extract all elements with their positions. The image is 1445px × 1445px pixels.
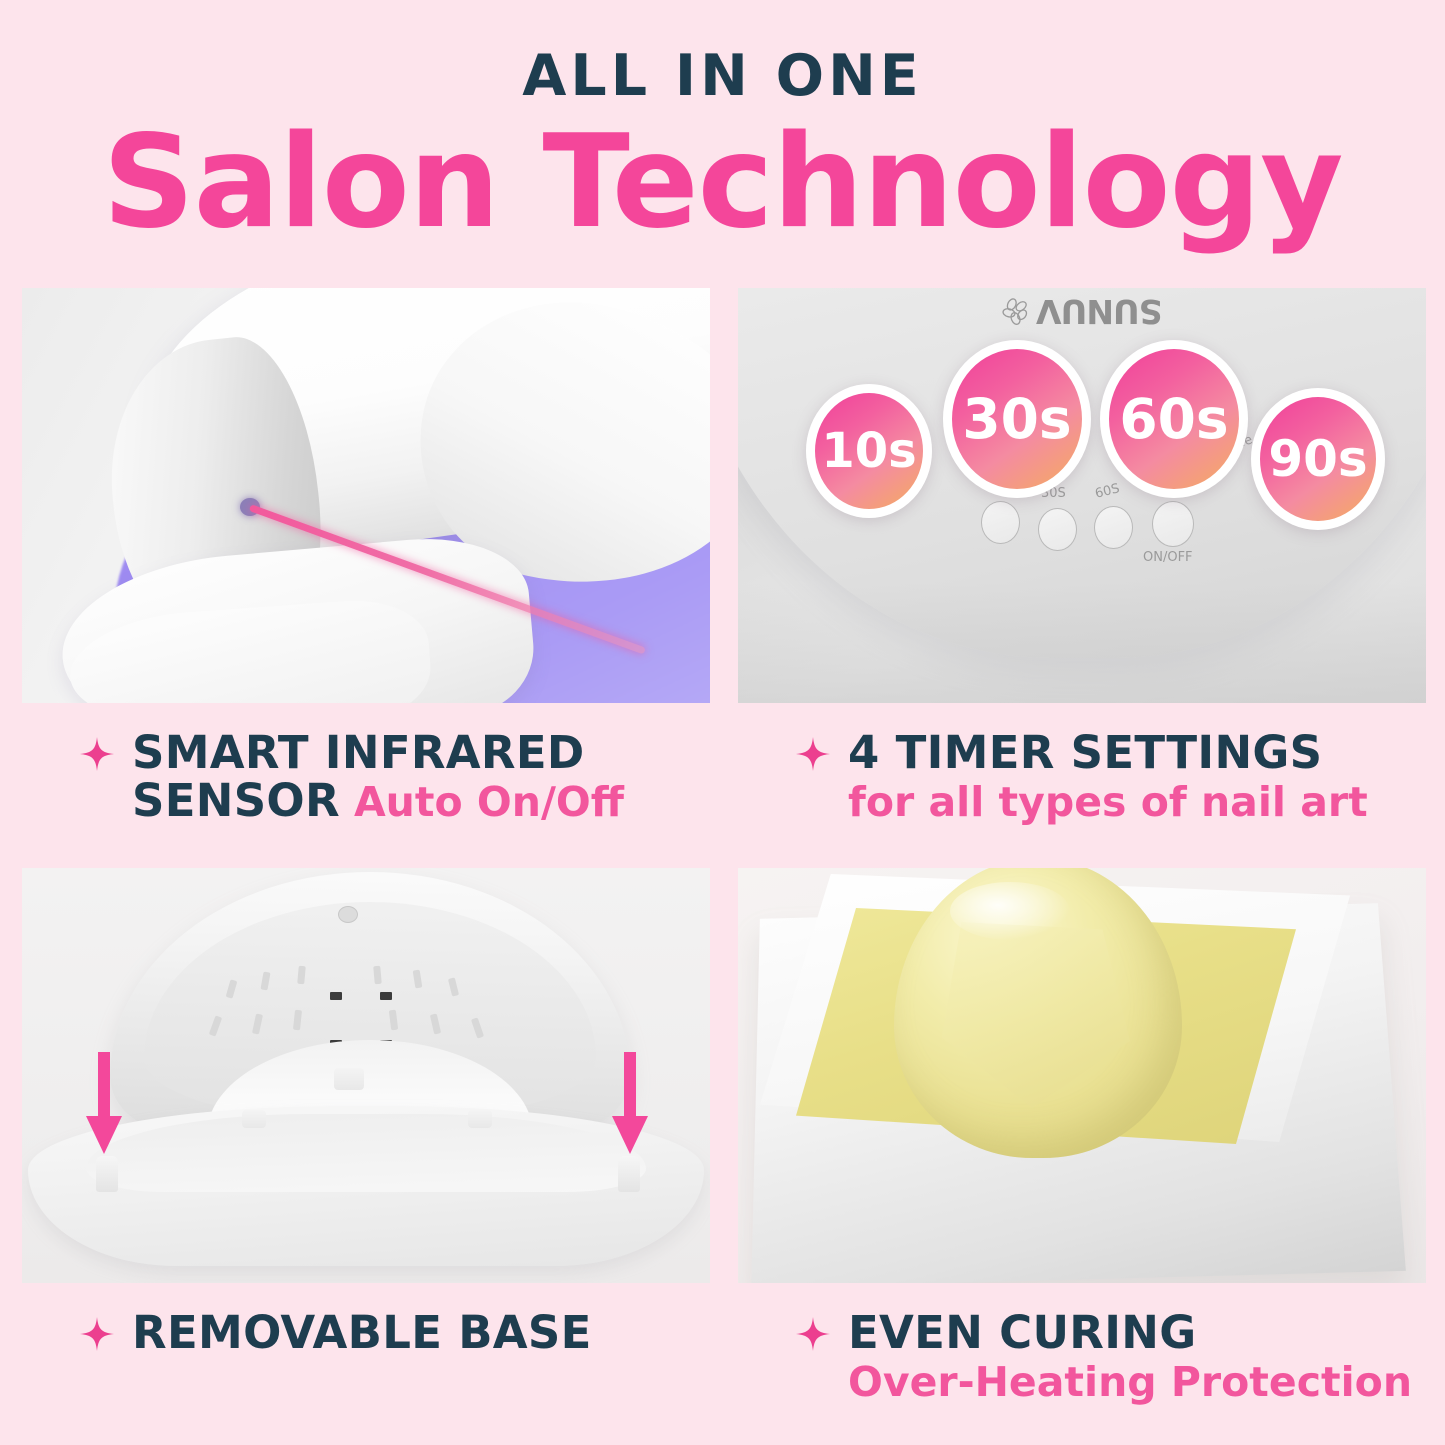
timer-bubble-90s[interactable]: 90s <box>1251 388 1385 530</box>
timer-bubble-10s[interactable]: 10s <box>806 384 932 518</box>
assembly-arrow-right-icon <box>610 1052 650 1158</box>
feature-caption: REMOVABLE BASE <box>22 1309 710 1357</box>
feature-title-line2: SENSOR <box>132 774 340 827</box>
feature-title: SMART INFRARED <box>132 726 585 779</box>
feature-card-timer-settings: SUNUV 10S 30S 60S 99S Low Heat Mode <box>738 288 1426 824</box>
feature-subtitle: Over-Heating Protection <box>848 1361 1412 1404</box>
feature-card-even-curing: EVEN CURING Over-Heating Protection <box>738 868 1426 1404</box>
sparkle-icon <box>80 1317 114 1351</box>
device-power-label: ON/OFF <box>1143 550 1193 565</box>
base-tab-right <box>468 1110 492 1128</box>
feature-title: REMOVABLE BASE <box>132 1306 592 1359</box>
feature-title: EVEN CURING <box>848 1306 1197 1359</box>
feature-caption: EVEN CURING Over-Heating Protection <box>738 1309 1426 1404</box>
base-peg-left <box>96 1156 118 1192</box>
device-button-30s[interactable] <box>1038 508 1077 551</box>
led-strip <box>373 966 382 985</box>
led-specular-highlight <box>950 882 1070 940</box>
page-title: Salon Technology <box>0 119 1445 247</box>
brand-name: SUNUV <box>1037 292 1163 331</box>
led-chip-macro-photo <box>738 868 1426 1283</box>
dome-latch-tab <box>334 1068 364 1090</box>
flower-icon <box>1001 297 1031 327</box>
base-peg-right <box>618 1156 640 1192</box>
feature-card-removable-base: REMOVABLE BASE <box>22 868 710 1357</box>
dome-sensor-dot <box>338 906 358 923</box>
page-header: ALL IN ONE Salon Technology <box>0 0 1445 247</box>
removable-base-exploded-photo <box>22 868 710 1283</box>
feature-card-smart-infrared-sensor: SMART INFRARED SENSORAuto On/Off <box>22 288 710 824</box>
base-tab-left <box>242 1110 266 1128</box>
feature-title: 4 TIMER SETTINGS <box>848 726 1322 779</box>
timer-bubble-30s[interactable]: 30s <box>943 340 1091 498</box>
assembly-arrow-left-icon <box>84 1052 124 1158</box>
feature-caption: 4 TIMER SETTINGS for all types of nail a… <box>738 729 1426 824</box>
device-shadow <box>738 583 1426 703</box>
device-button-power[interactable] <box>1152 501 1194 547</box>
control-panel-photo: SUNUV 10S 30S 60S 99S Low Heat Mode <box>738 288 1426 703</box>
feature-caption: SMART INFRARED SENSORAuto On/Off <box>22 729 710 824</box>
device-button-60s[interactable] <box>1094 506 1133 549</box>
sparkle-icon <box>80 737 114 771</box>
led-chip <box>330 992 342 1000</box>
led-chip <box>380 992 392 1000</box>
uv-lamp-infrared-beam-photo <box>22 288 710 703</box>
header-eyebrow: ALL IN ONE <box>0 48 1445 105</box>
base-plate-surface <box>86 1114 646 1192</box>
brand-logo: SUNUV <box>738 292 1426 331</box>
sparkle-icon <box>796 737 830 771</box>
feature-subtitle: for all types of nail art <box>848 781 1368 824</box>
timer-bubble-60s[interactable]: 60s <box>1100 340 1248 498</box>
sparkle-icon <box>796 1317 830 1351</box>
feature-subtitle: Auto On/Off <box>354 778 624 826</box>
device-button-10s[interactable] <box>981 501 1020 544</box>
